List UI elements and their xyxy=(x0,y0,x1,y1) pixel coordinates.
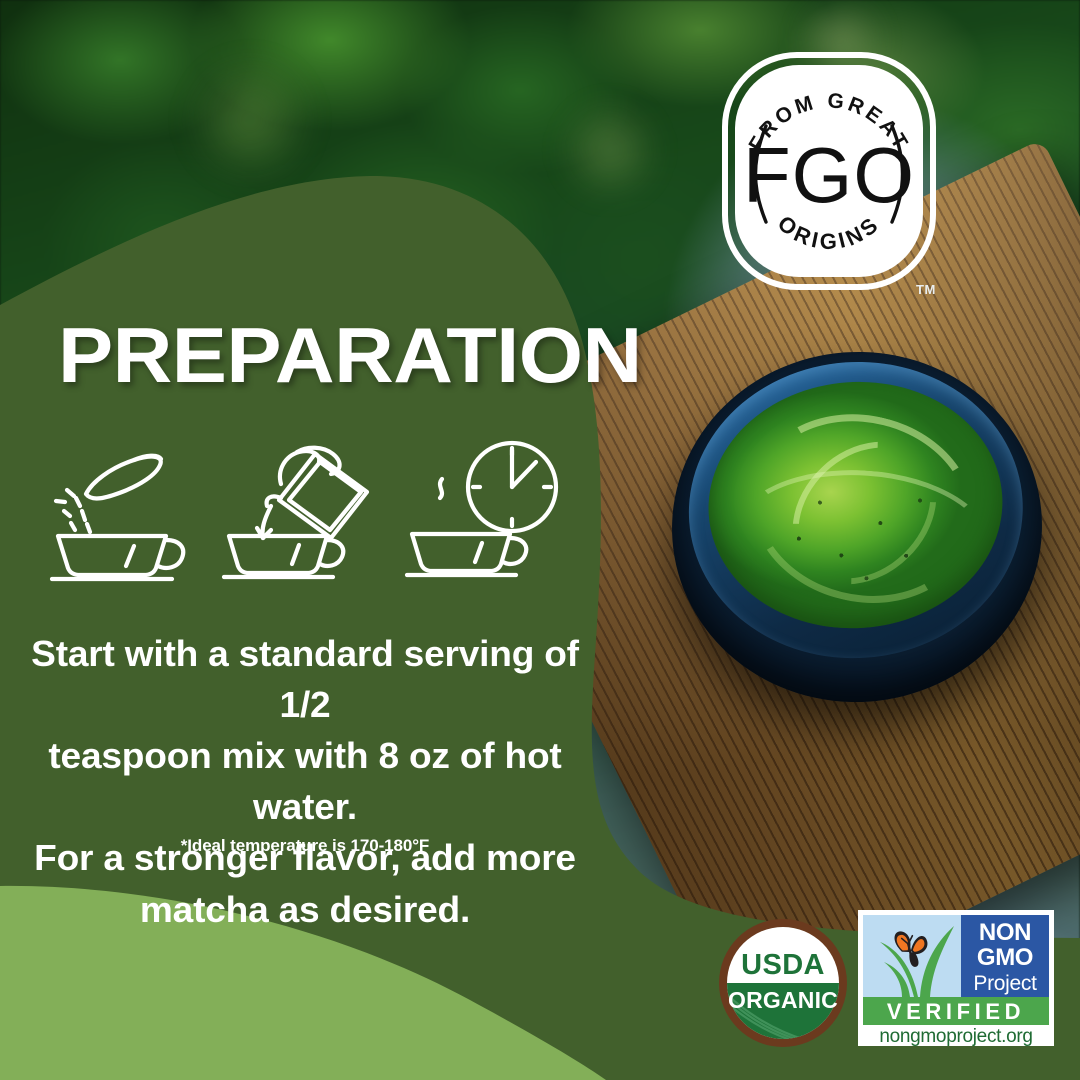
content-layer: FROM GREAT ORIGINS FGO TM PREPARATION xyxy=(0,0,1080,1080)
logo-monogram: FGO xyxy=(743,131,915,219)
nongmo-verified-text: VERIFIED xyxy=(887,999,1025,1024)
steaming-cup-with-clock-icon xyxy=(404,432,564,582)
instructions-line-4: matcha as desired. xyxy=(1,884,609,935)
spoon-scoop-into-cup-icon xyxy=(34,432,194,582)
page-title: PREPARATION xyxy=(58,316,642,394)
nongmo-url-text: nongmoproject.org xyxy=(879,1026,1032,1046)
nongmo-line-1: NON xyxy=(979,919,1031,946)
usda-bottom-text: ORGANIC xyxy=(728,987,838,1013)
instructions-text: Start with a standard serving of 1/2 tea… xyxy=(1,628,609,935)
pour-water-into-cup-icon xyxy=(219,432,379,582)
preparation-steps-icon-row xyxy=(34,432,564,582)
instructions-line-1: Start with a standard serving of 1/2 xyxy=(1,628,609,730)
infographic-canvas: FROM GREAT ORIGINS FGO TM PREPARATION xyxy=(0,0,1080,1080)
temperature-footnote: *Ideal temperature is 170-180°F xyxy=(10,836,600,856)
instructions-line-2: teaspoon mix with 8 oz of hot water. xyxy=(1,730,609,832)
nongmo-line-2: GMO xyxy=(977,944,1033,971)
trademark-symbol: TM xyxy=(916,282,936,297)
usda-top-text: USDA xyxy=(741,949,825,981)
fgo-logo: FROM GREAT ORIGINS FGO xyxy=(722,52,936,290)
non-gmo-project-verified-badge: NON GMO Project VERIFIED nongmoproject.o… xyxy=(858,910,1054,1046)
usda-organic-seal: USDA ORGANIC xyxy=(716,916,850,1050)
nongmo-line-3: Project xyxy=(973,972,1037,995)
